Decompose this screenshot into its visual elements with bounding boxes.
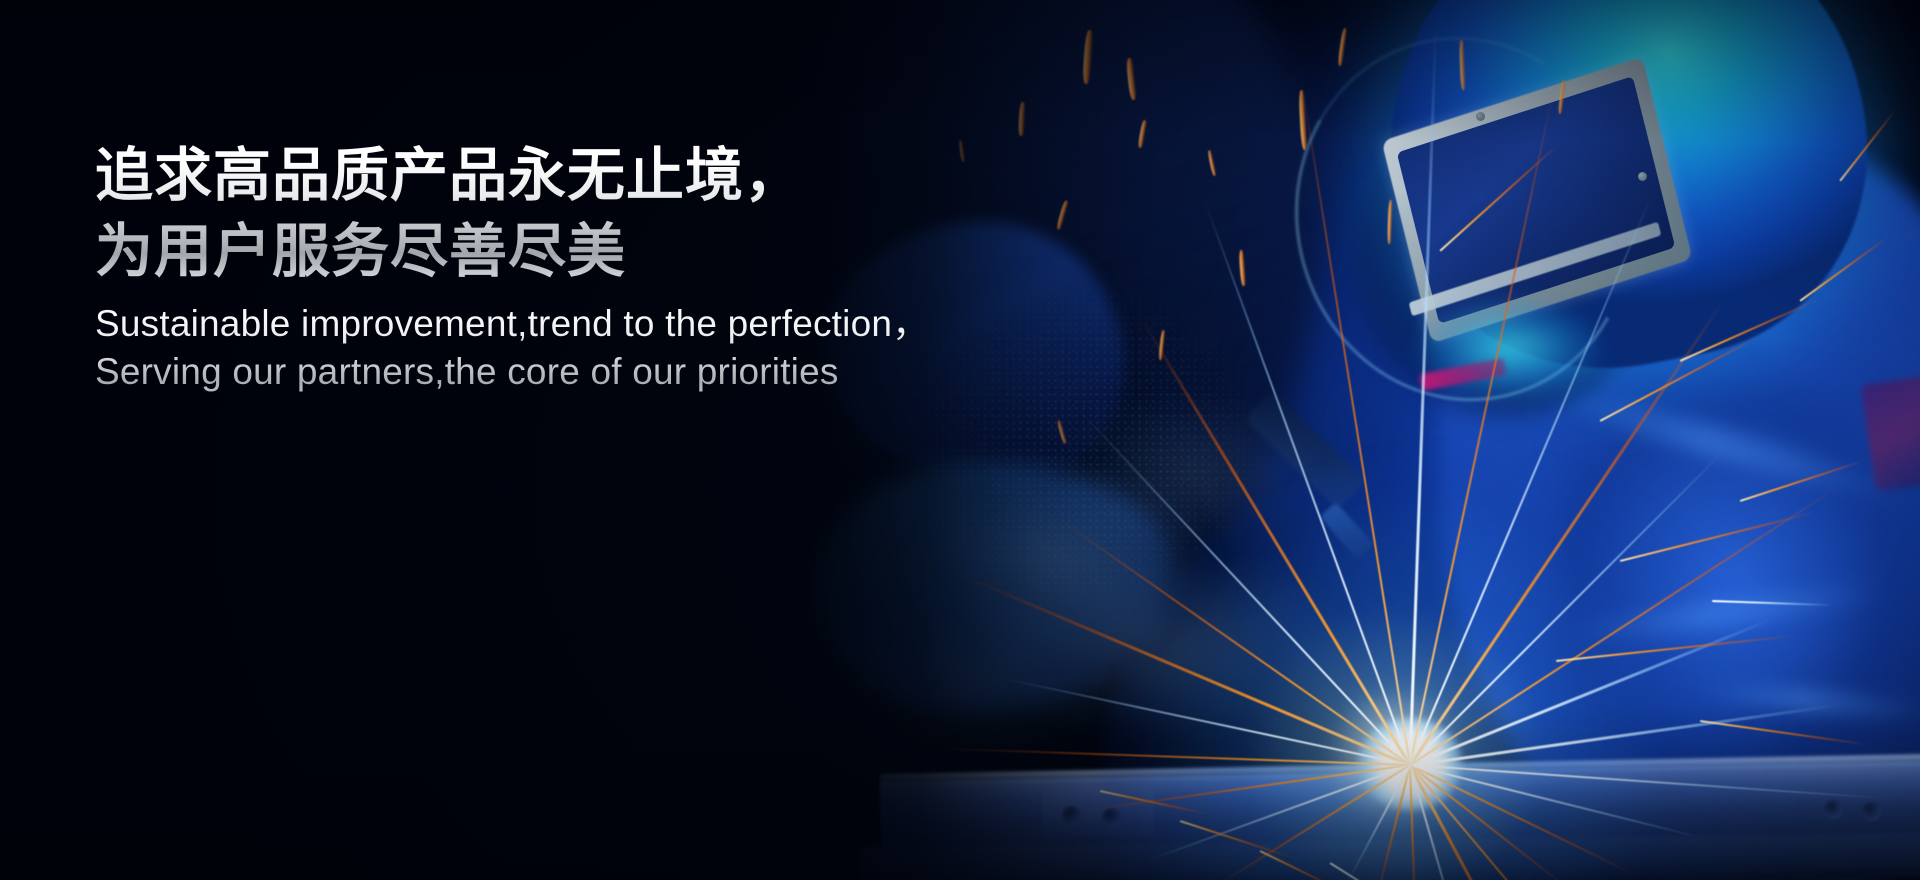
- headline-line-2: 为用户服务尽善尽美: [95, 214, 995, 290]
- hero-banner: 追求高品质产品永无止境， 为用户服务尽善尽美 Sustainable impro…: [0, 0, 1920, 880]
- welding-photo-background: [0, 0, 1920, 880]
- visor-screw: [1638, 172, 1647, 181]
- workpiece-bolt: [1062, 806, 1081, 825]
- subheadline-line-1: Sustainable improvement,trend to the per…: [95, 300, 995, 348]
- subheadline: Sustainable improvement,trend to the per…: [95, 300, 995, 396]
- smoke-wisp: [840, 600, 1100, 750]
- headline-line-1: 追求高品质产品永无止境，: [95, 138, 995, 214]
- workpiece-bolt: [1862, 802, 1881, 821]
- banner-copy: 追求高品质产品永无止境， 为用户服务尽善尽美 Sustainable impro…: [95, 138, 995, 396]
- visor-screw: [1476, 112, 1485, 121]
- subheadline-line-2: Serving our partners,the core of our pri…: [95, 348, 995, 396]
- headline: 追求高品质产品永无止境， 为用户服务尽善尽美: [95, 138, 995, 290]
- workpiece-bolt: [1824, 800, 1843, 819]
